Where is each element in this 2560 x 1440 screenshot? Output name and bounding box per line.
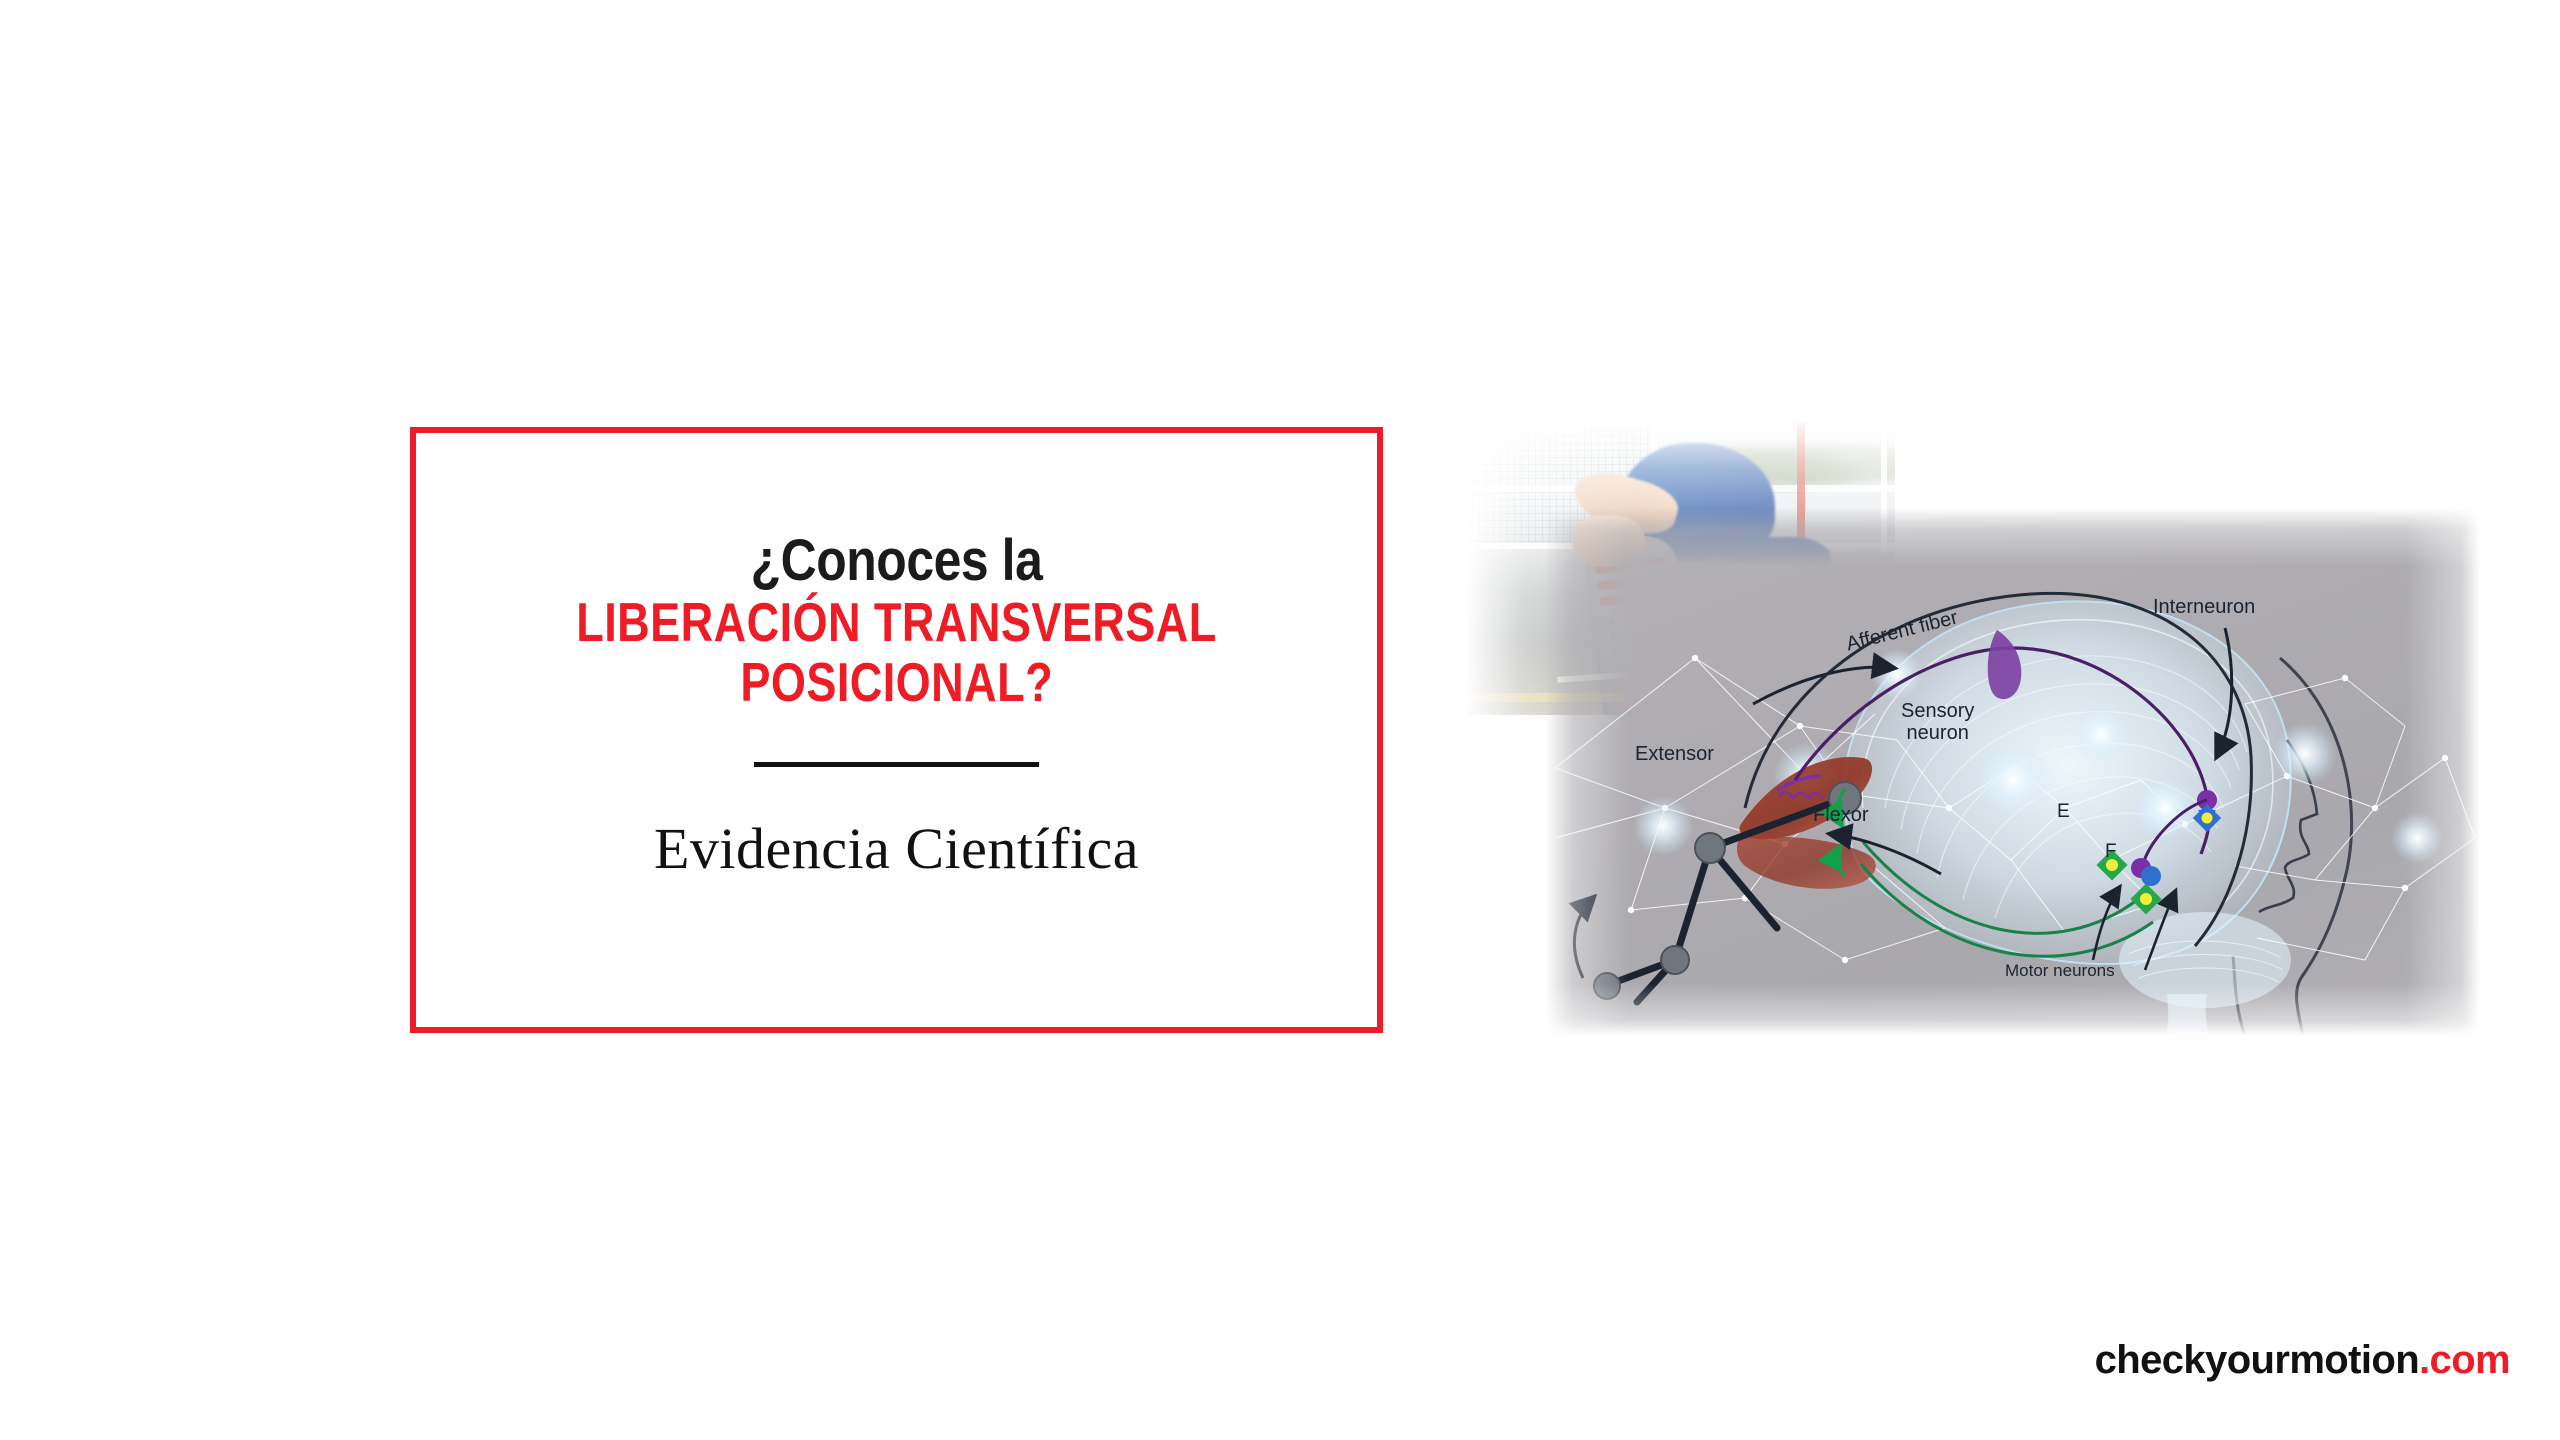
limb-motion-arrow <box>1574 898 1593 978</box>
brand-name: checkyourmotion <box>2095 1338 2419 1382</box>
label-sensory-neuron-line1: Sensory <box>1901 700 1974 722</box>
brand-tld: .com <box>2419 1338 2510 1382</box>
label-interneuron: Interneuron <box>2153 596 2255 618</box>
headline-line-2: LIBERACIÓN TRANSVERSAL <box>502 596 1290 650</box>
label-flexor: Flexor <box>1813 804 1869 826</box>
label-extensor-synapse: E <box>2057 801 2070 822</box>
subtitle: Evidencia Científica <box>654 815 1139 882</box>
label-extensor: Extensor <box>1635 743 1714 765</box>
headline-block: ¿Conoces la LIBERACIÓN TRANSVERSAL POSIC… <box>416 533 1377 710</box>
label-sensory-neuron: Sensory neuron <box>1901 700 1974 745</box>
stretch-reflex-brain-diagram: Afferent fiber Sensory neuron Interneuro… <box>1545 508 2480 1036</box>
brand-watermark: checkyourmotion.com <box>2095 1338 2510 1383</box>
headline-line-3-text: POSICIONAL <box>740 651 1025 713</box>
headline-line-3: POSICIONAL? <box>502 656 1290 710</box>
title-card: ¿Conoces la LIBERACIÓN TRANSVERSAL POSIC… <box>410 427 1383 1033</box>
headline-question-mark: ? <box>1025 651 1053 713</box>
image-collage: Afferent fiber Sensory neuron Interneuro… <box>1440 380 2500 1060</box>
divider-rule <box>754 762 1039 767</box>
label-sensory-neuron-line2: neuron <box>1907 722 1969 744</box>
neuro-artwork-svg <box>1545 508 2480 1036</box>
label-motor-neurons: Motor neurons <box>2005 961 2115 980</box>
headline-line-1: ¿Conoces la <box>483 533 1309 590</box>
label-flexor-synapse: F <box>2105 841 2117 862</box>
